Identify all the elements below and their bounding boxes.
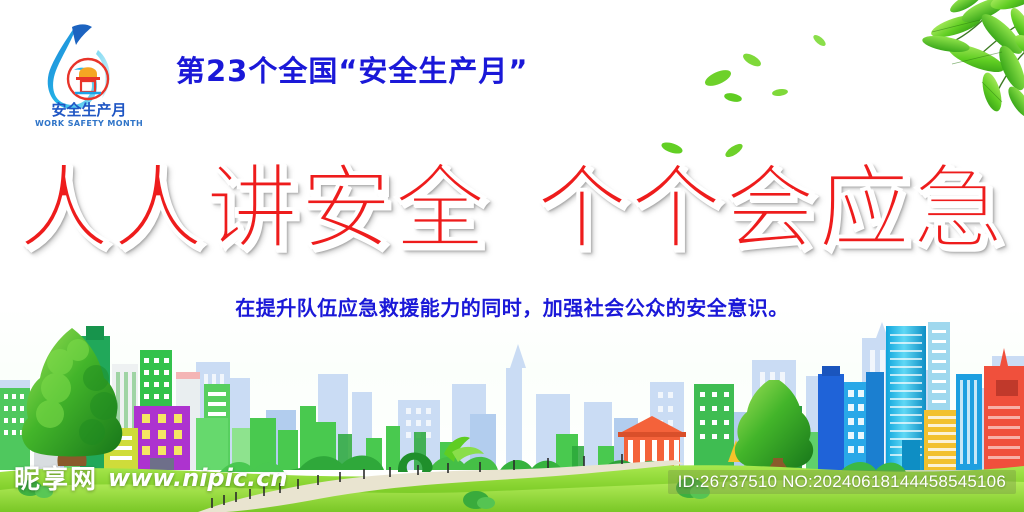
logo-flag-tip bbox=[72, 24, 92, 45]
main-slogan: 人人讲安全个个会应急 bbox=[0, 163, 1024, 255]
leaf-branch-decoration bbox=[806, 0, 1024, 136]
floating-leaf-icon bbox=[811, 32, 828, 49]
campaign-subtitle: 在提升队伍应急救援能力的同时，加强社会公众的安全意识。 bbox=[0, 292, 1024, 321]
campaign-title: 第23个全国“安全生产月” bbox=[176, 48, 528, 90]
slogan-left: 人人讲安全 bbox=[18, 155, 488, 262]
tree-right bbox=[735, 380, 813, 478]
watermark-site-name: 昵享网 bbox=[14, 459, 98, 496]
site-watermark: 昵享网 www.nipic.cn bbox=[14, 459, 288, 496]
floating-leaf-icon bbox=[740, 50, 763, 70]
logo-name-en: WORK SAFETY MONTH bbox=[35, 119, 143, 128]
image-id-label: ID:26737510 NO:20240618144458545106 bbox=[668, 470, 1016, 494]
leaf-branch-stems bbox=[956, 0, 1024, 94]
logo-name-cn: 安全生产月 bbox=[51, 101, 126, 119]
floating-leaf-icon bbox=[702, 65, 734, 91]
right-blue-city bbox=[818, 322, 1024, 470]
slogan-right: 个个会应急 bbox=[536, 155, 1006, 262]
leaf-shapes bbox=[921, 0, 1024, 121]
work-safety-month-logo: 安全生产月 WORK SAFETY MONTH bbox=[26, 22, 152, 130]
watermark-site-url: www.nipic.cn bbox=[108, 464, 287, 492]
leaf-veins bbox=[932, 20, 1002, 102]
logo-helmet-brim bbox=[76, 77, 100, 80]
floating-leaf-icon bbox=[771, 87, 788, 98]
floating-leaf-icon bbox=[723, 90, 743, 105]
poster-canvas: 安全生产月 WORK SAFETY MONTH bbox=[0, 0, 1024, 512]
